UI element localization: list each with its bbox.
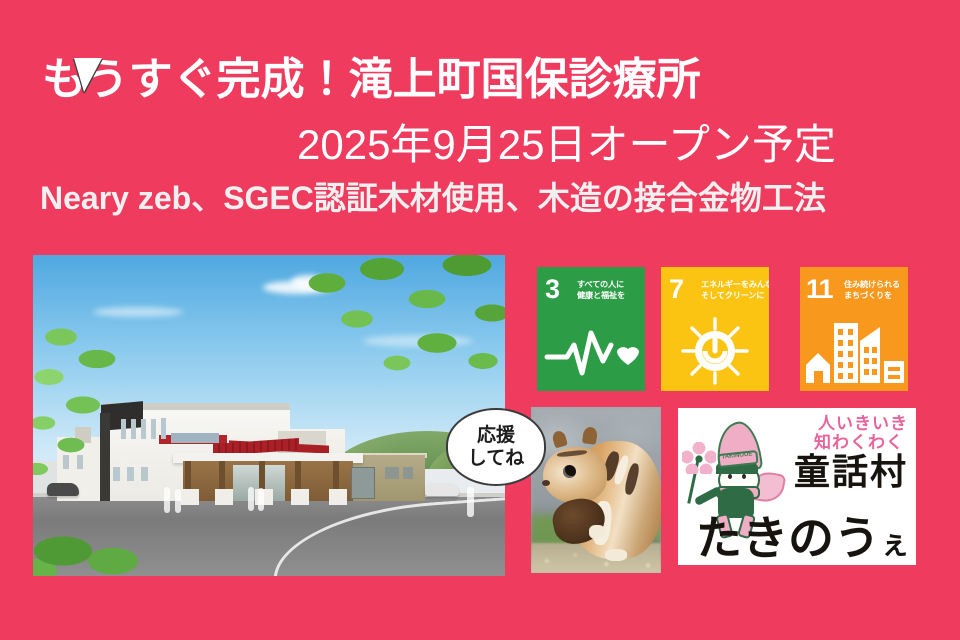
figure-silhouette (175, 489, 181, 513)
building-render-image (33, 255, 505, 576)
side-entrance-door (351, 467, 375, 499)
town-logo-name-suffix: ぇ (880, 528, 910, 561)
town-logo-name: たきのうぇ (696, 515, 910, 561)
sdg-badge-7-number: 7 (669, 276, 683, 303)
town-logo[interactable]: TAKINOUE 人いきいき 知わくわく 童話村 たきのうぇ (678, 408, 916, 565)
sdg-badge-3-number: 3 (545, 276, 559, 303)
cloud-shape (93, 307, 183, 317)
heartbeat-icon (537, 315, 645, 387)
figure-silhouette (164, 487, 170, 513)
town-logo-tagline: 人いきいき 知わくわく (748, 414, 908, 452)
chipmunk-paw (589, 525, 605, 539)
chipmunk-eye (563, 465, 576, 478)
headline-line-2: 2025年9月25日オープン予定 (297, 124, 836, 166)
sdg-badge-7-caption-line-2: そしてクリーンに (701, 290, 769, 301)
sdg-badge-11-caption: 住み続けられる まちづくりを (844, 279, 908, 302)
sdg-badge-11-caption-line-2: まちづくりを (844, 290, 908, 301)
tree-foliage (33, 319, 157, 519)
window-pane (161, 418, 166, 439)
speech-balloon-line-1: 応援 (477, 424, 515, 447)
town-logo-name-main: たきのう (696, 512, 880, 564)
speech-balloon-line-2: してね (468, 447, 524, 470)
sdg-badge-7[interactable]: 7 エネルギーをみんなに そしてクリーンに (661, 267, 769, 391)
figure-silhouette (258, 488, 264, 511)
sdg-badge-3-caption: すべての人に 健康と福祉を (577, 279, 643, 302)
figure-silhouette (467, 487, 474, 517)
headline-line-3: Neary zeb、SGEC認証木材使用、木造の接合金物工法 (40, 182, 826, 214)
sdg-badge-3-caption-line-1: すべての人に (577, 279, 643, 290)
sdg-badge-11[interactable]: 11 住み続けられる まちづくりを (800, 267, 908, 391)
fairy-eye (728, 474, 732, 479)
chipmunk-ear (582, 426, 598, 445)
town-logo-tagline-line-2: 知わくわく (748, 433, 908, 452)
sdg-badge-11-number: 11 (806, 276, 833, 303)
entrance-pier (181, 489, 199, 505)
cityscape-icon (800, 315, 908, 387)
chipmunk-paw (605, 549, 627, 561)
headline-line-1: もうすぐ完成！滝上町国保診療所 (42, 58, 701, 102)
chipmunk-photo (531, 407, 661, 573)
entrance-pier (329, 489, 347, 505)
sun-power-icon (661, 315, 769, 387)
town-logo-tagline-line-1: 人いきいき (748, 414, 908, 433)
window-pane (385, 467, 399, 479)
sdg-badge-7-caption: エネルギーをみんなに そしてクリーンに (701, 279, 769, 302)
speech-balloon-tail (74, 58, 102, 92)
figure-silhouette (248, 487, 254, 511)
window-pane (403, 467, 413, 479)
window-strip (171, 433, 219, 443)
entrance-pier (291, 489, 309, 505)
speech-balloon: 応援 してね (446, 408, 546, 486)
tree-foliage (287, 255, 505, 403)
speech-balloon-text: 応援 してね (448, 410, 544, 484)
sdg-badge-3-caption-line-2: 健康と福祉を (577, 290, 643, 301)
poster-canvas: もうすぐ完成！滝上町国保診療所 2025年9月25日オープン予定 Neary z… (0, 0, 960, 640)
sdg-badge-7-caption-line-1: エネルギーをみんなに (701, 279, 769, 290)
sdg-badge-3[interactable]: 3 すべての人に 健康と福祉を (537, 267, 645, 391)
cherry-blossom-icon (682, 442, 716, 474)
entrance-pier (215, 489, 233, 505)
parked-car (425, 483, 459, 496)
town-logo-title: 童話村 (794, 454, 908, 490)
sdg-badge-11-caption-line-1: 住み続けられる (844, 279, 908, 290)
shrub-foliage (33, 527, 153, 576)
fairy-eye (742, 474, 746, 479)
